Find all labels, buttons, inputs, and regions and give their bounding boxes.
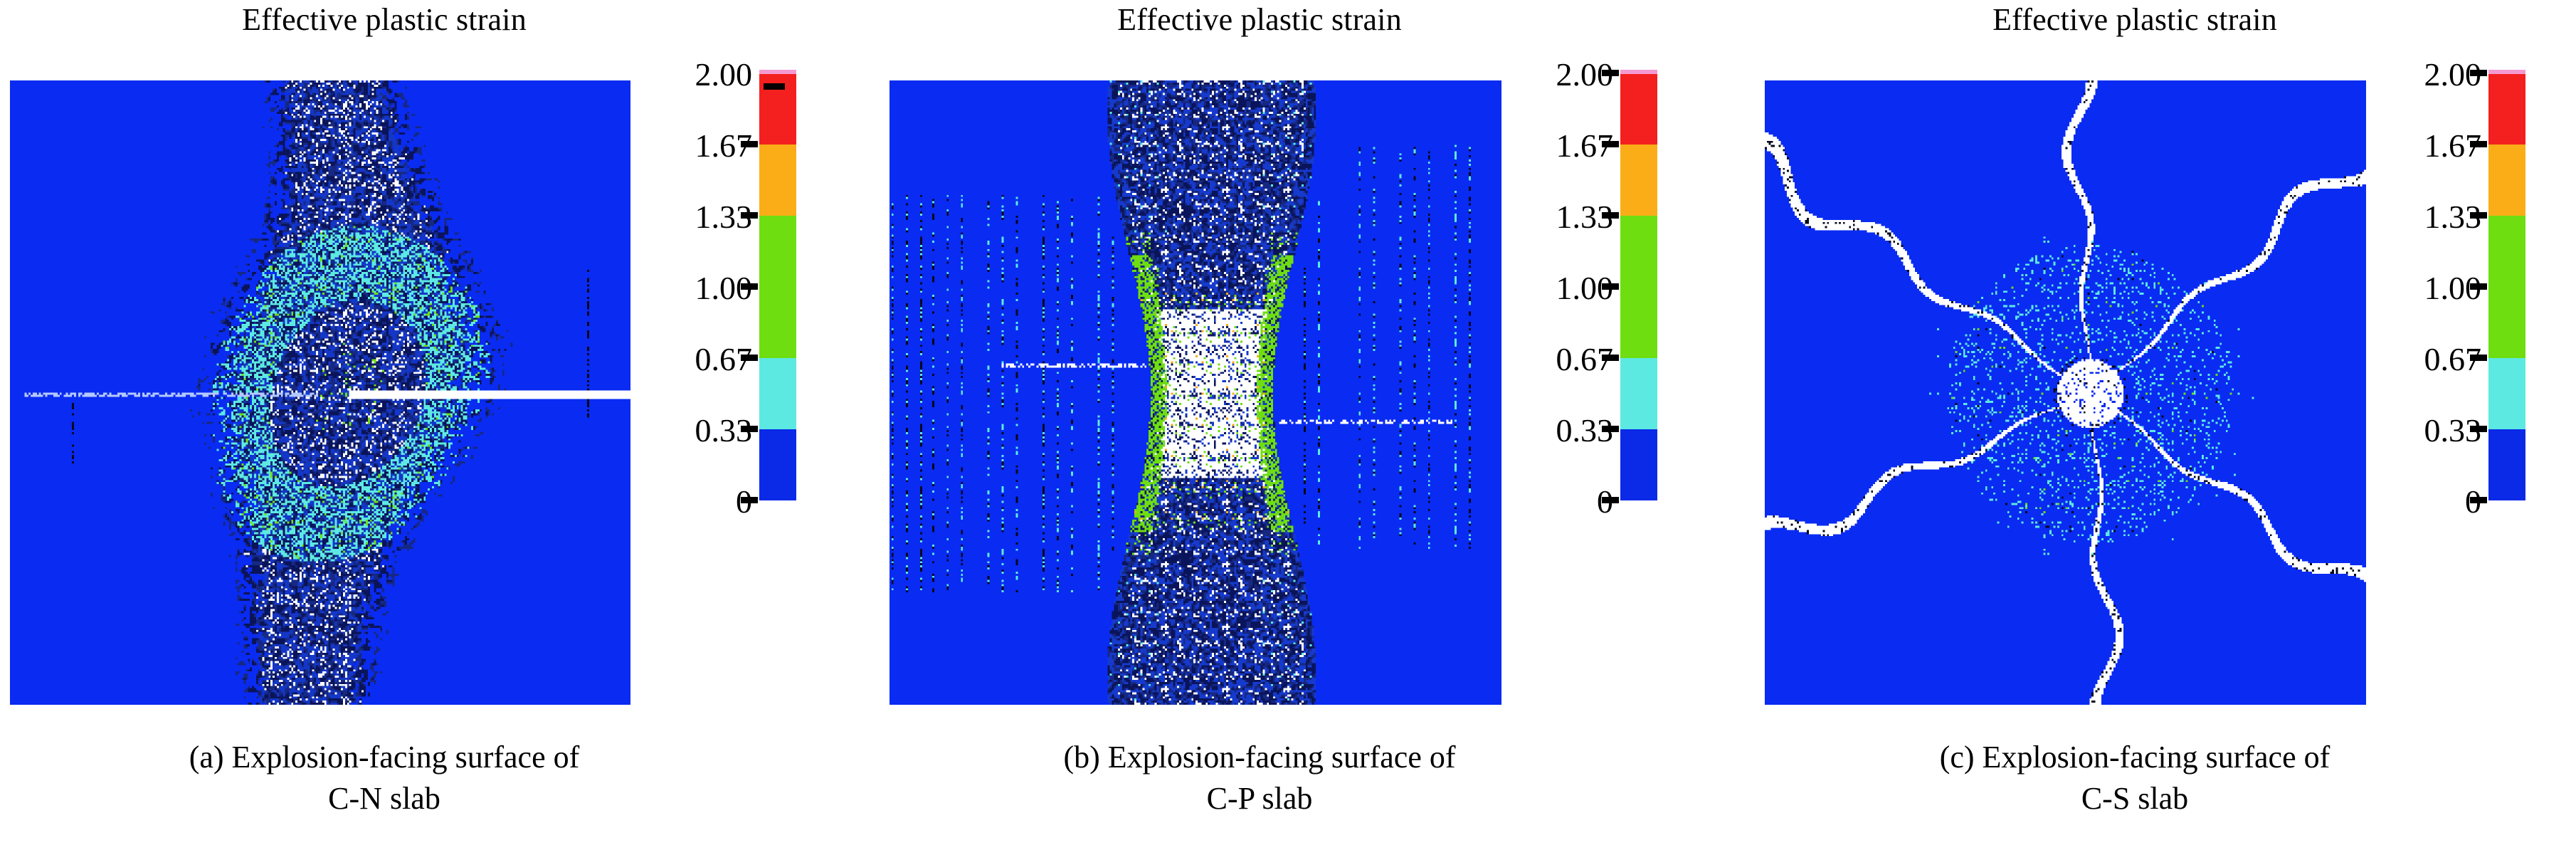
- panel-c-contour: [1765, 80, 2366, 705]
- colorbar-top-tick: [764, 83, 785, 90]
- colorbar-band-green-lower: [1620, 287, 1657, 358]
- colorbar-band-red: [1620, 73, 1657, 145]
- colorbar-band-cyan: [2488, 358, 2525, 429]
- colorbar-band-orange: [1620, 145, 1657, 216]
- tick-mark-0: [2470, 497, 2487, 503]
- panel-b-caption-line1: (b) Explosion-facing surface of: [1063, 740, 1455, 775]
- panel-c-plot: [1765, 80, 2366, 705]
- panel-c-title: Effective plastic strain: [1708, 1, 2562, 38]
- colorbar-band-blue: [759, 429, 796, 500]
- tick-mark-1.00: [1602, 283, 1619, 290]
- colorbar-band-orange: [759, 145, 796, 216]
- panel-b-plot: [890, 80, 1501, 705]
- panel-a-colorbar-bands: [759, 73, 796, 500]
- tick-mark-1.67: [1602, 141, 1619, 147]
- panel-c-colorbar-bands: [2488, 73, 2525, 500]
- panel-a-caption: (a) Explosion-facing surface of C-N slab: [0, 737, 811, 819]
- panel-b-title: Effective plastic strain: [833, 1, 1686, 38]
- panel-a-colorbar-ticks: [739, 71, 758, 503]
- panel-b-contour: [890, 80, 1501, 705]
- panel-c-caption: (c) Explosion-facing surface of C-S slab: [1708, 737, 2562, 819]
- tick-mark-0.67: [2470, 355, 2487, 361]
- panel-b-colorbar-ticks: [1600, 71, 1619, 503]
- tick-mark-0: [1602, 497, 1619, 503]
- panel-a-contour: [10, 80, 630, 705]
- tick-mark-0.33: [2470, 426, 2487, 432]
- tick-mark-0.33: [1602, 426, 1619, 432]
- panel-a: Effective plastic strain 2.00 1.67 1.33 …: [0, 0, 854, 850]
- tick-mark-1.67: [741, 141, 758, 147]
- colorbar-band-green-upper: [1620, 216, 1657, 287]
- tick-mark-1.33: [741, 212, 758, 219]
- panel-b-caption-line2: C-P slab: [833, 778, 1686, 819]
- colorbar-band-green-upper: [759, 216, 796, 287]
- panel-c-colorbar-labels: 2.00 1.67 1.33 1.00 0.67 0.33 0: [2318, 71, 2481, 503]
- colorbar-band-cyan: [1620, 358, 1657, 429]
- panel-c: Effective plastic strain 2.00 1.67 1.33 …: [1722, 0, 2576, 850]
- panel-b-colorbar-labels: 2.00 1.67 1.33 1.00 0.67 0.33 0: [1450, 71, 1613, 503]
- colorbar-band-blue: [2488, 429, 2525, 500]
- colorbar-band-green-lower: [2488, 287, 2525, 358]
- panel-b-colorbar-bands: [1620, 73, 1657, 500]
- colorbar-band-blue: [1620, 429, 1657, 500]
- colorbar-band-orange: [2488, 145, 2525, 216]
- tick-mark-0.67: [1602, 355, 1619, 361]
- colorbar-band-red: [2488, 73, 2525, 145]
- colorbar-cap-strip: [1620, 70, 1657, 74]
- tick-mark-0.67: [741, 355, 758, 361]
- tick-mark-1.67: [2470, 141, 2487, 147]
- panel-a-caption-line2: C-N slab: [0, 778, 811, 819]
- tick-mark-1.00: [2470, 283, 2487, 290]
- colorbar-band-green-upper: [2488, 216, 2525, 287]
- figure-root: Effective plastic strain 2.00 1.67 1.33 …: [0, 0, 2576, 850]
- colorbar-band-cyan: [759, 358, 796, 429]
- panel-a-title: Effective plastic strain: [0, 1, 811, 38]
- panel-a-colorbar-labels: 2.00 1.67 1.33 1.00 0.67 0.33 0: [588, 71, 752, 503]
- panel-b: Effective plastic strain 2.00 1.67 1.33 …: [861, 0, 1715, 850]
- colorbar-band-green-lower: [759, 287, 796, 358]
- tick-mark-2.00: [1602, 70, 1619, 76]
- colorbar-cap-strip: [759, 70, 796, 74]
- tick-mark-1.33: [2470, 212, 2487, 219]
- panel-a-caption-line1: (a) Explosion-facing surface of: [189, 740, 580, 775]
- tick-mark-0.33: [741, 426, 758, 432]
- panel-c-caption-line2: C-S slab: [1708, 778, 2562, 819]
- tick-mark-2.00: [2470, 70, 2487, 76]
- colorbar-cap-strip: [2488, 70, 2525, 74]
- tick-mark-1.33: [1602, 212, 1619, 219]
- panel-c-colorbar-ticks: [2469, 71, 2487, 503]
- tick-mark-1.00: [741, 283, 758, 290]
- tick-mark-0: [741, 497, 758, 503]
- panel-c-caption-line1: (c) Explosion-facing surface of: [1940, 740, 2330, 775]
- panel-b-caption: (b) Explosion-facing surface of C-P slab: [833, 737, 1686, 819]
- panel-a-plot: [10, 80, 630, 705]
